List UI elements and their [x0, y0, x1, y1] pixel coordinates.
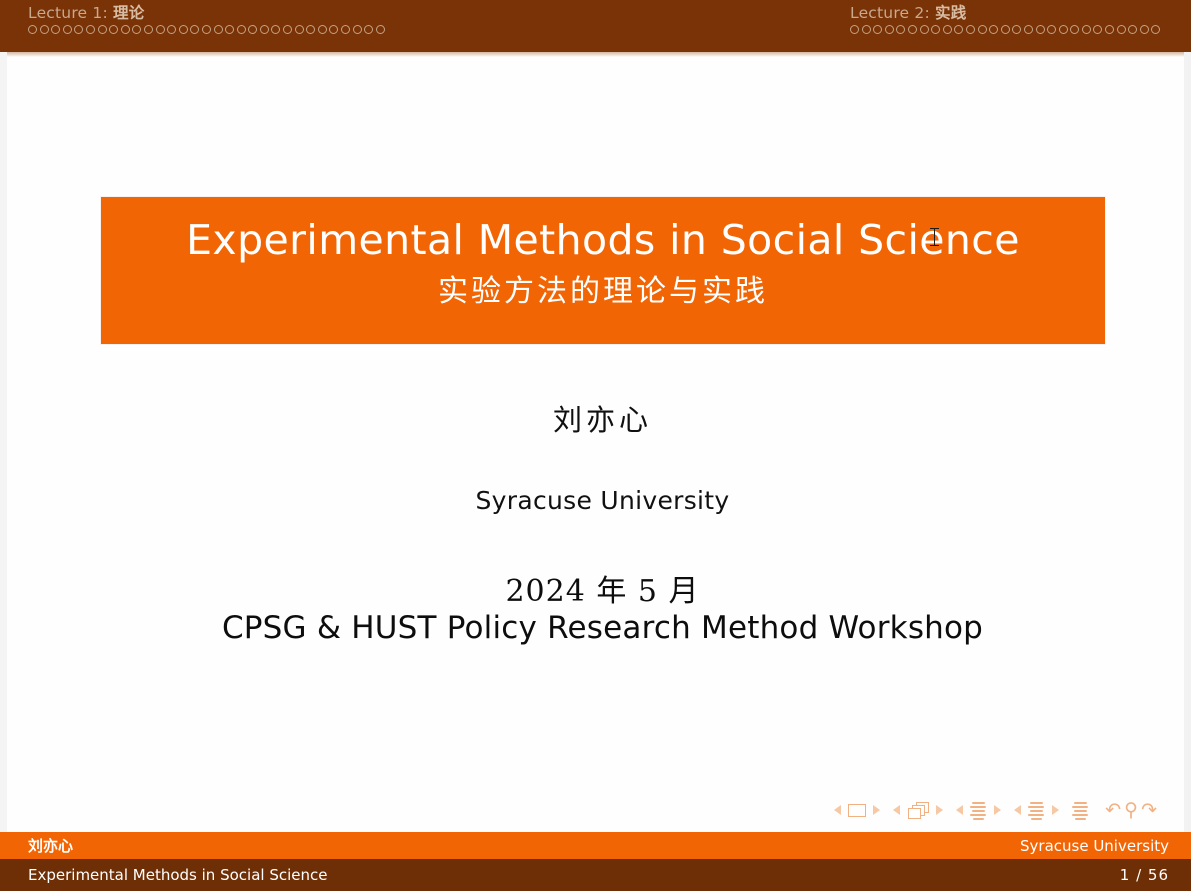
nav-dot[interactable]	[63, 25, 72, 34]
nav-dot[interactable]	[202, 25, 211, 34]
nav-dot[interactable]	[271, 25, 280, 34]
nav-dot[interactable]	[1128, 25, 1137, 34]
nav-dot[interactable]	[885, 25, 894, 34]
nav-dot[interactable]	[1093, 25, 1102, 34]
title-block: Experimental Methods in Social Science 实…	[101, 197, 1105, 344]
nav-dot[interactable]	[132, 25, 141, 34]
nav-dot[interactable]	[1001, 25, 1010, 34]
previous-frame-icon[interactable]	[893, 805, 900, 815]
nav-dot[interactable]	[862, 25, 871, 34]
nav-dot[interactable]	[943, 25, 952, 34]
beamer-headline-navigation: Lecture 1: 理论 Lecture 2: 实践	[0, 0, 1191, 52]
nav-dot[interactable]	[353, 25, 362, 34]
nav-dot[interactable]	[1151, 25, 1160, 34]
nav-dot[interactable]	[329, 25, 338, 34]
nav-dot[interactable]	[260, 25, 269, 34]
presentation-date: 2024 年 5 月	[7, 566, 1191, 610]
nav-dot[interactable]	[920, 25, 929, 34]
nav-dot[interactable]	[144, 25, 153, 34]
nav-dot[interactable]	[190, 25, 199, 34]
section-lines-icon[interactable]	[1028, 802, 1045, 819]
nav-section-label-2: Lecture 2: 实践	[850, 0, 1190, 23]
nav-section-cjk-1: 理论	[113, 4, 144, 22]
nav-dot[interactable]	[376, 25, 385, 34]
nav-section-lecture-1[interactable]: Lecture 1: 理论	[0, 0, 595, 52]
nav-dot[interactable]	[989, 25, 998, 34]
next-subsection-icon[interactable]	[994, 805, 1001, 815]
nav-dot[interactable]	[931, 25, 940, 34]
nav-dot[interactable]	[237, 25, 246, 34]
nav-dot[interactable]	[156, 25, 165, 34]
nav-dot[interactable]	[51, 25, 60, 34]
next-section-icon[interactable]	[1052, 805, 1059, 815]
nav-dot[interactable]	[341, 25, 350, 34]
nav-dot[interactable]	[109, 25, 118, 34]
nav-dot[interactable]	[1105, 25, 1114, 34]
nav-section-prefix-2: Lecture 2:	[850, 4, 930, 22]
institute-name: Syracuse University	[7, 486, 1191, 515]
nav-dots-lecture-1[interactable]	[28, 25, 595, 34]
nav-dot[interactable]	[978, 25, 987, 34]
nav-dot[interactable]	[121, 25, 130, 34]
nav-dot[interactable]	[1070, 25, 1079, 34]
next-frame-icon[interactable]	[936, 805, 943, 815]
nav-dot[interactable]	[873, 25, 882, 34]
next-slide-icon[interactable]	[873, 805, 880, 815]
footline-title-row: Experimental Methods in Social Science 1…	[0, 859, 1191, 891]
nav-dot[interactable]	[1024, 25, 1033, 34]
nav-dot[interactable]	[954, 25, 963, 34]
nav-dot[interactable]	[248, 25, 257, 34]
nav-dot[interactable]	[295, 25, 304, 34]
nav-section-prefix-1: Lecture 1:	[28, 4, 108, 22]
slide-canvas: Experimental Methods in Social Science 实…	[0, 52, 1191, 832]
nav-dot[interactable]	[306, 25, 315, 34]
nav-section-label-1: Lecture 1: 理论	[28, 0, 595, 23]
nav-dots-lecture-2[interactable]	[850, 25, 1190, 34]
slide-frame-icon[interactable]	[848, 804, 866, 817]
subsection-navigation-group[interactable]	[956, 802, 1001, 819]
forward-icon[interactable]: ↷	[1141, 801, 1157, 820]
event-name: CPSG & HUST Policy Research Method Works…	[7, 610, 1191, 646]
footer-page-number: 1 / 56	[1120, 866, 1169, 884]
nav-dot[interactable]	[225, 25, 234, 34]
presentation-lines-icon[interactable]	[1072, 802, 1089, 819]
previous-slide-icon[interactable]	[834, 805, 841, 815]
presentation-navigation-group[interactable]	[1072, 802, 1089, 819]
frame-stack-icon[interactable]	[907, 802, 929, 819]
footer-institute: Syracuse University	[1020, 837, 1169, 855]
footer-author: 刘亦心	[28, 835, 73, 856]
previous-section-icon[interactable]	[1014, 805, 1021, 815]
nav-dot[interactable]	[908, 25, 917, 34]
history-navigation-group[interactable]: ↶ ⚲ ↷	[1102, 801, 1157, 820]
nav-dot[interactable]	[850, 25, 859, 34]
nav-dot[interactable]	[179, 25, 188, 34]
nav-dot[interactable]	[40, 25, 49, 34]
back-icon[interactable]: ↶	[1105, 801, 1121, 820]
page-title: Experimental Methods in Social Science	[101, 215, 1105, 265]
nav-dot[interactable]	[1036, 25, 1045, 34]
nav-section-lecture-2[interactable]: Lecture 2: 实践	[595, 0, 1190, 52]
nav-dot[interactable]	[966, 25, 975, 34]
nav-dot[interactable]	[167, 25, 176, 34]
nav-dot[interactable]	[74, 25, 83, 34]
nav-dot[interactable]	[1140, 25, 1149, 34]
nav-dot[interactable]	[896, 25, 905, 34]
footline-author-row: 刘亦心 Syracuse University	[0, 832, 1191, 859]
nav-dot[interactable]	[1117, 25, 1126, 34]
nav-dot[interactable]	[318, 25, 327, 34]
nav-dot[interactable]	[1059, 25, 1068, 34]
page-subtitle: 实验方法的理论与实践	[101, 269, 1105, 315]
beamer-navigation-symbols[interactable]: ↶ ⚲ ↷	[834, 797, 1170, 823]
presentation-slide: Lecture 1: 理论 Lecture 2: 实践 Experimental…	[0, 0, 1191, 891]
frame-navigation-group[interactable]	[893, 802, 943, 819]
search-icon[interactable]: ⚲	[1124, 801, 1138, 820]
nav-dot[interactable]	[283, 25, 292, 34]
section-navigation-group[interactable]	[1014, 802, 1059, 819]
nav-dot[interactable]	[1012, 25, 1021, 34]
slide-navigation-group[interactable]	[834, 804, 880, 817]
nav-dot[interactable]	[1082, 25, 1091, 34]
footer-title: Experimental Methods in Social Science	[28, 866, 327, 884]
previous-subsection-icon[interactable]	[956, 805, 963, 815]
nav-dot[interactable]	[86, 25, 95, 34]
subsection-lines-icon[interactable]	[970, 802, 987, 819]
nav-dot[interactable]	[364, 25, 373, 34]
nav-dot[interactable]	[98, 25, 107, 34]
nav-dot[interactable]	[1047, 25, 1056, 34]
nav-section-cjk-2: 实践	[935, 4, 966, 22]
nav-dot[interactable]	[214, 25, 223, 34]
author-name: 刘亦心	[7, 397, 1191, 439]
nav-dot[interactable]	[28, 25, 37, 34]
